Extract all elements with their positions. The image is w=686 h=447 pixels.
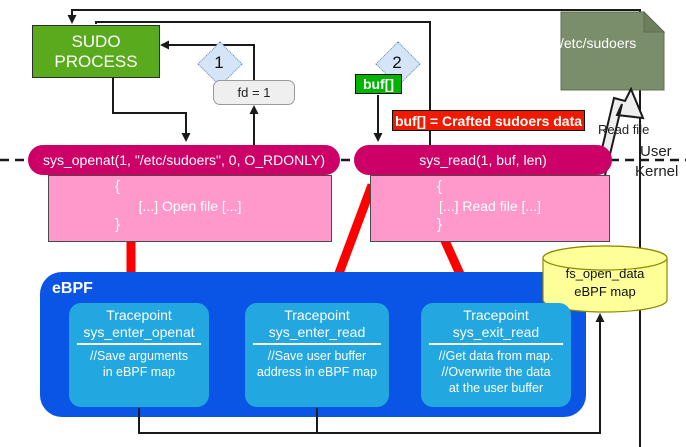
tp-exit-read-body-line3: at the user buffer (426, 380, 566, 396)
openat-body-text: [...] Open file [...] (49, 198, 331, 214)
tp-openat-body: //Save arguments in eBPF map (69, 348, 209, 380)
tp-exit-read-head: Tracepoint sys_exit_read (421, 307, 571, 341)
sudoers-file-fold (644, 12, 664, 32)
tp-openat-body-line2: in eBPF map (74, 364, 204, 380)
tp-exit-read-head-line2: sys_exit_read (425, 324, 567, 341)
tp-openat-head: Tracepoint sys_enter_openat (69, 307, 209, 341)
fd-value-box: fd = 1 (213, 80, 295, 105)
ebpf-map-label: fs_open_data eBPF map (543, 265, 667, 301)
syscall-openat-signature: sys_openat(1, "/etc/sudoers", 0, O_RDONL… (28, 145, 340, 175)
tp-exit-read-body-line1: //Get data from map. (426, 348, 566, 364)
tracepoint-sys-enter-read: Tracepoint sys_enter_read //Save user bu… (245, 303, 389, 407)
openat-brace-open: { (115, 178, 120, 195)
tp-enter-read-head-line1: Tracepoint (249, 307, 385, 324)
tp-exit-read-divider (429, 343, 563, 345)
ebpf-map-kind: eBPF map (543, 283, 667, 301)
syscall-read-signature: sys_read(1, buf, len) (354, 145, 612, 175)
diagram-canvas: SUDO PROCESS 1 2 fd = 1 buf[] buf[] = Cr… (0, 0, 686, 447)
read-file-caption: Read file (598, 122, 649, 137)
openat-brace-close: } (115, 216, 120, 233)
sudo-process-line1: SUDO (71, 32, 120, 52)
tp-openat-head-line1: Tracepoint (73, 307, 205, 324)
sudo-process-box: SUDO PROCESS (32, 25, 160, 78)
tp-openat-divider (77, 343, 201, 345)
syscall-openat-body: { } [...] Open file [...] (48, 175, 332, 242)
ebpf-container-label: eBPF (52, 280, 93, 298)
tp-exit-read-body-line2: //Overwrite the data (426, 364, 566, 380)
tp-enter-read-body: //Save user buffer address in eBPF map (245, 348, 389, 380)
step-badge-1-label: 1 (204, 48, 234, 78)
sudo-process-line2: PROCESS (54, 52, 137, 72)
tracepoint-sys-enter-openat: Tracepoint sys_enter_openat //Save argum… (69, 303, 209, 407)
read-body-text: [...] Read file [...] (371, 198, 609, 214)
tp-openat-body-line1: //Save arguments (74, 348, 204, 364)
buf-pointer-label: buf[] (355, 74, 402, 94)
sudoers-file-label: /etc/sudoers (560, 35, 660, 51)
kernel-space-label: Kernel (635, 163, 678, 180)
tp-openat-head-line2: sys_enter_openat (73, 324, 205, 341)
tp-enter-read-body-line2: address in eBPF map (250, 364, 384, 380)
tp-exit-read-head-line1: Tracepoint (425, 307, 567, 324)
ebpf-map-name: fs_open_data (543, 265, 667, 283)
read-brace-close: } (437, 216, 442, 233)
tp-exit-read-body: //Get data from map. //Overwrite the dat… (421, 348, 571, 396)
read-brace-open: { (437, 178, 442, 195)
tracepoint-sys-exit-read: Tracepoint sys_exit_read //Get data from… (421, 303, 571, 407)
tp-enter-read-head: Tracepoint sys_enter_read (245, 307, 389, 341)
crafted-data-label: buf[] = Crafted sudoers data (392, 110, 585, 131)
tp-enter-read-divider (253, 343, 381, 345)
tp-enter-read-head-line2: sys_enter_read (249, 324, 385, 341)
syscall-read-body: { } [...] Read file [...] (370, 175, 610, 242)
tp-enter-read-body-line1: //Save user buffer (250, 348, 384, 364)
connector-sudo-to-openat (113, 78, 186, 140)
user-space-label: User (640, 143, 672, 160)
